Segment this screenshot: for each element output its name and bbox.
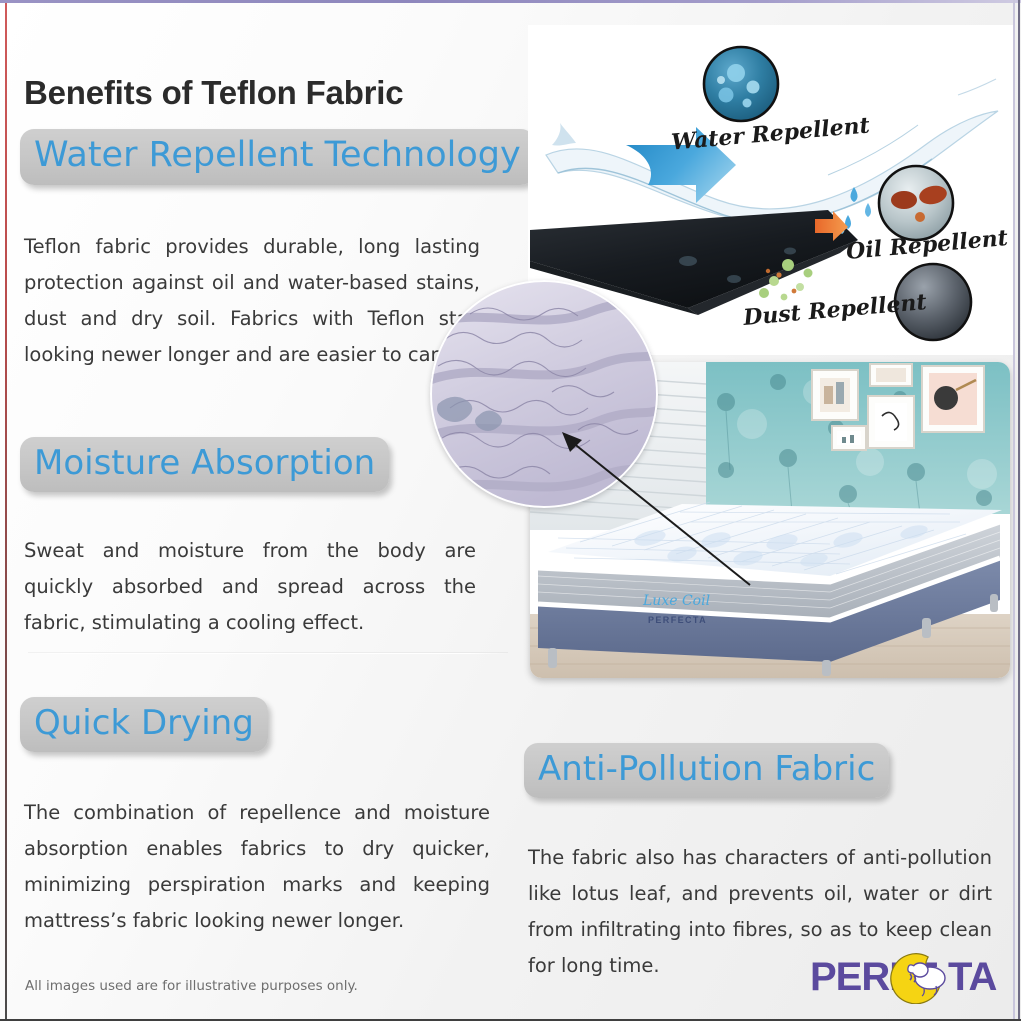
section-heading-moisture-absorption: Moisture Absorption — [20, 437, 389, 492]
mattress-brand-label: Luxe Coil — [642, 593, 710, 609]
section-body-water-repellent: Teflon fabric provides durable, long las… — [24, 229, 480, 373]
perfecta-logo: PERFE TA — [810, 948, 1006, 1004]
right-border-rule-inner — [1013, 0, 1015, 1021]
top-border-rule — [0, 0, 1021, 3]
section-body-quick-drying: The combination of repellence and moistu… — [24, 795, 490, 939]
infographic-page: Benefits of Teflon Fabric Water Repellen… — [0, 0, 1021, 1021]
perfecta-logo-svg: PERFE TA — [810, 948, 1006, 1004]
mattress-sub-brand-label: PERFECTA — [648, 615, 707, 625]
section-divider — [28, 653, 508, 654]
right-border-rule-outer — [1018, 0, 1020, 1021]
left-content-column: Benefits of Teflon Fabric Water Repellen… — [0, 0, 520, 1021]
left-border-rule — [5, 3, 7, 1021]
section-heading-anti-pollution: Anti-Pollution Fabric — [524, 743, 889, 798]
footnote-disclaimer: All images used are for illustrative pur… — [25, 978, 358, 994]
section-heading-water-repellent: Water Repellent Technology — [20, 129, 535, 185]
section-body-moisture-absorption: Sweat and moisture from the body are qui… — [24, 533, 476, 641]
section-heading-quick-drying: Quick Drying — [20, 697, 268, 752]
logo-wordmark-post: TA — [948, 955, 996, 999]
callout-arrow — [560, 430, 760, 590]
page-title: Benefits of Teflon Fabric — [24, 74, 494, 112]
